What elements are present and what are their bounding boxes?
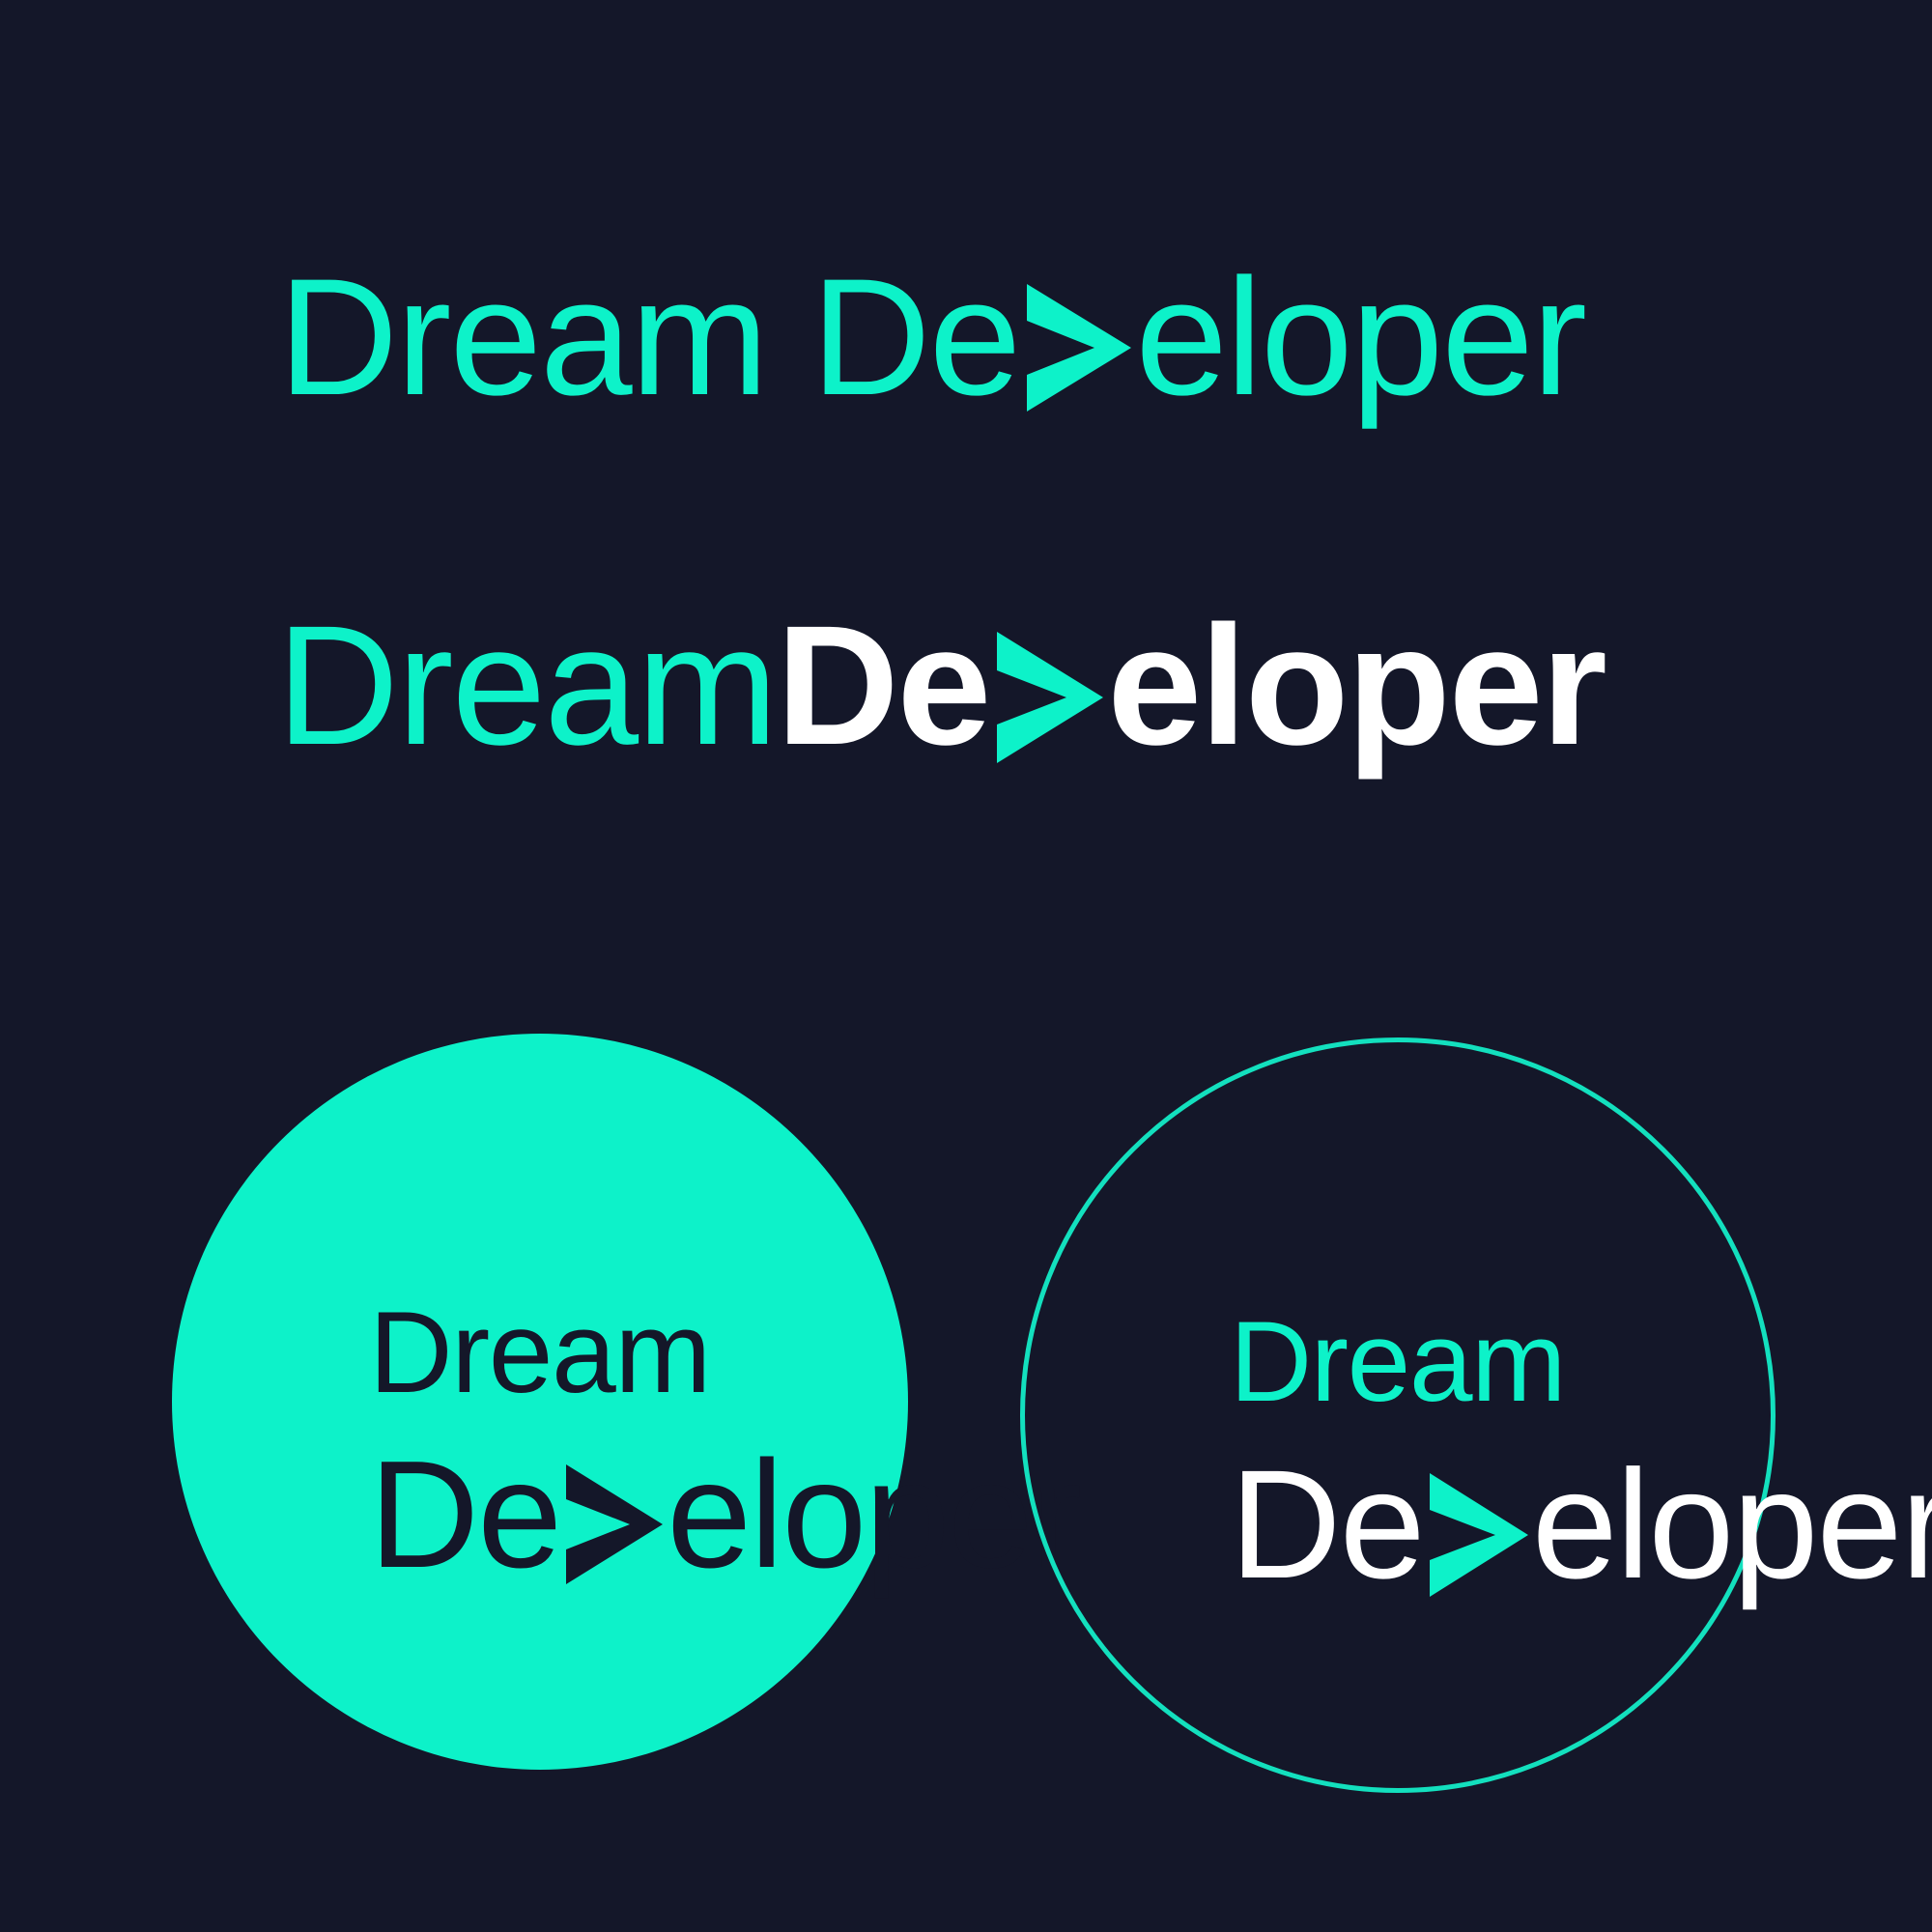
wordmark-pre-text: Dream De [278,254,1019,420]
chevron-right-icon [989,620,1107,790]
chevron-right-icon [1424,1463,1532,1618]
badge-text-stack: Dream De eloper [1230,1301,1932,1602]
chevron-right-icon [560,1455,667,1607]
wordmark-white-pre-text: De [777,601,990,771]
wordmark-post-text: eloper [1135,254,1585,420]
logo-horizontal-teal[interactable]: Dream De eloper [278,228,1585,420]
logo-circle-outline[interactable]: Dream De eloper [1020,1037,1776,1793]
logo-circle-filled[interactable]: Dream De eloper [172,1034,908,1770]
badge-bottom-post-text: eloper [667,1438,1080,1591]
logo-canvas: Dream De eloper Dream De eloper Dream De [0,0,1932,1932]
logo-horizontal-two-tone[interactable]: Dream De eloper [276,574,1605,771]
wordmark-teal-text: Dream [276,601,777,771]
wordmark-white-post-text: eloper [1107,601,1605,771]
badge-bottom-post-text: eloper [1532,1447,1932,1602]
badge-line-bottom: De eloper [369,1414,1080,1591]
badge-text-stack: Dream De eloper [369,1291,1080,1591]
chevron-right-icon [1019,272,1135,439]
badge-line-top: Dream [1230,1301,1932,1423]
badge-top-text: Dream [369,1291,710,1414]
badge-bottom-pre-text: De [1230,1447,1424,1602]
badge-top-text: Dream [1230,1301,1565,1423]
badge-line-top: Dream [369,1291,1080,1414]
badge-bottom-pre-text: De [369,1438,560,1591]
badge-line-bottom: De eloper [1230,1423,1932,1602]
